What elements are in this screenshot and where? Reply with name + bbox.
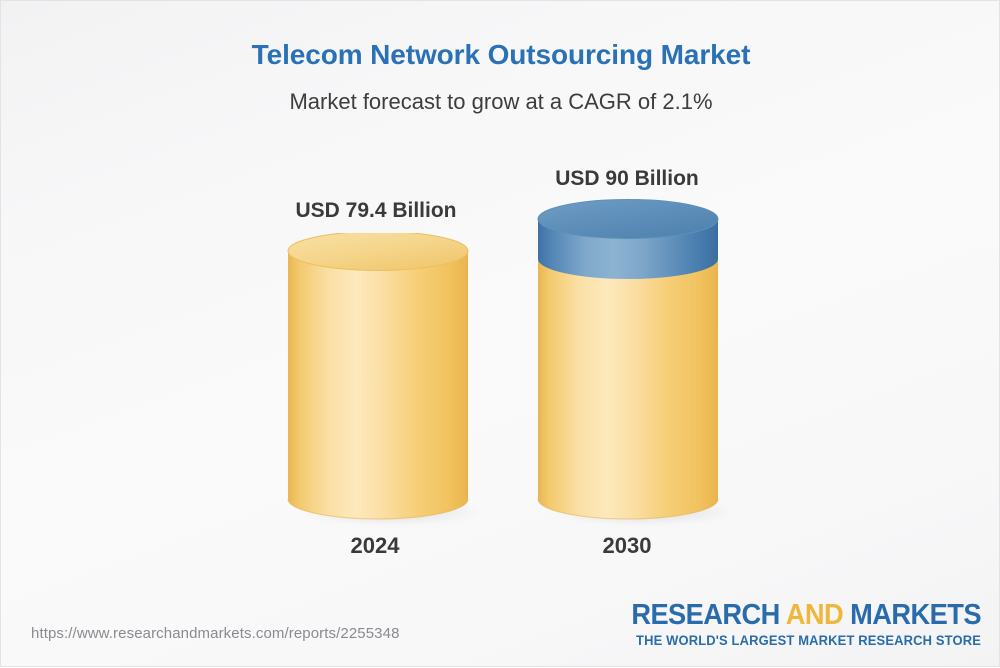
logo-markets-text: MARKETS (843, 599, 981, 631)
bar-category-label-2030: 2030 (487, 533, 767, 559)
chart-canvas: Telecom Network Outsourcing Market Marke… (0, 0, 1000, 667)
bar-value-label-2030: USD 90 Billion (487, 167, 767, 191)
report-url[interactable]: https://www.researchandmarkets.com/repor… (31, 625, 400, 642)
logo-tagline: THE WORLD'S LARGEST MARKET RESEARCH STOR… (624, 633, 981, 648)
bar-category-label-2024: 2024 (235, 533, 515, 559)
logo-research-text: RESEARCH (631, 599, 785, 631)
plot-area: USD 79.4 Billion (1, 1, 1000, 668)
bar-cylinder-2030[interactable] (535, 199, 721, 523)
logo-wordmark: RESEARCH AND MARKETS (631, 601, 981, 631)
logo-and-text: AND (786, 599, 843, 631)
bar-cylinder-2024[interactable] (285, 233, 471, 523)
research-and-markets-logo[interactable]: RESEARCH AND MARKETS THE WORLD'S LARGEST… (609, 601, 981, 648)
bar-value-label-2024: USD 79.4 Billion (236, 199, 516, 223)
